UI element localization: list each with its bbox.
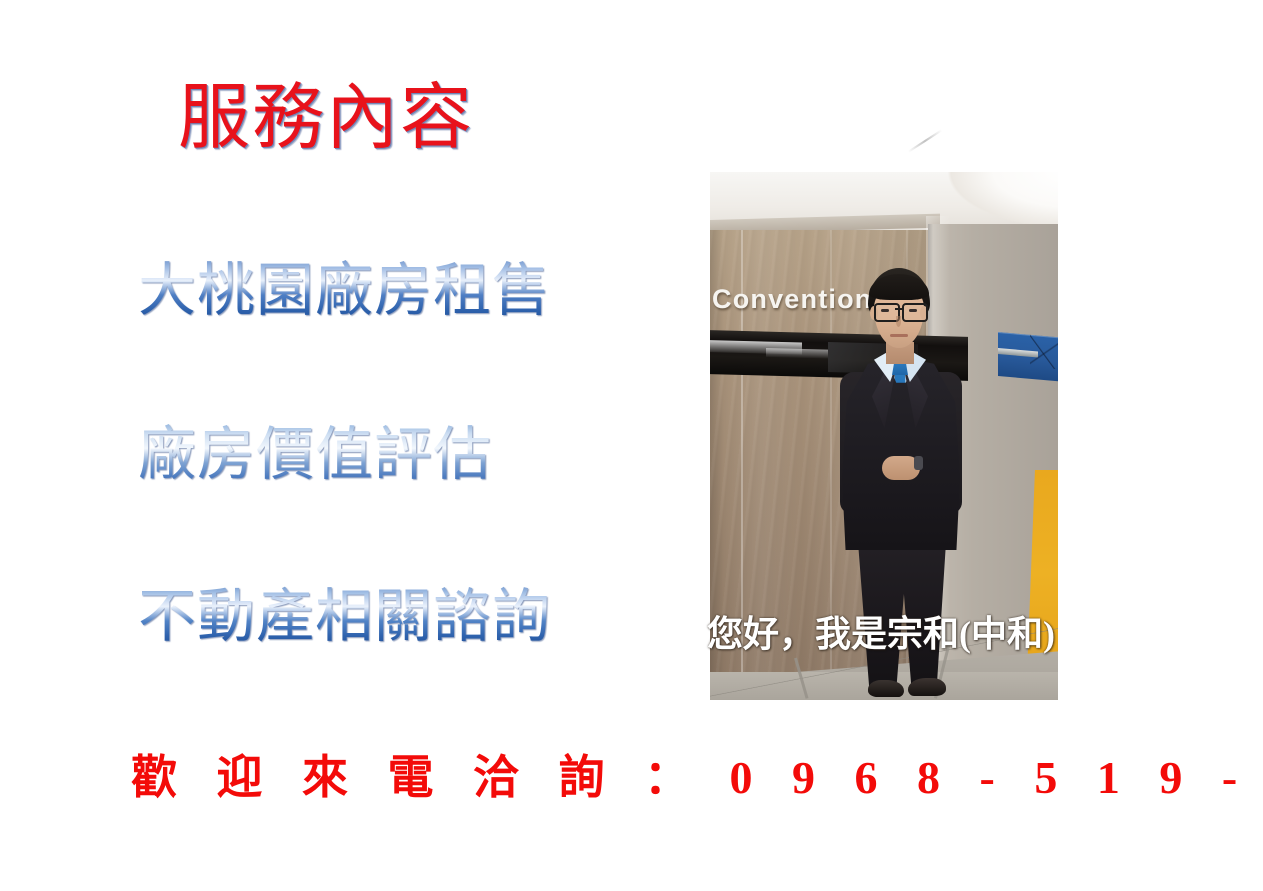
slide-canvas: 服務內容 大桃園廠房租售 廠房價值評估 不動產相關諮詢 Convention C… — [0, 0, 1263, 891]
person-mouth — [890, 334, 908, 337]
eyeglasses-bridge — [895, 308, 903, 310]
diagonal-line-artifact — [908, 129, 943, 152]
service-item-3: 不動產相關諮詢 — [138, 584, 551, 650]
page-title: 服務內容 — [178, 76, 474, 160]
contact-phone-line: 歡 迎 來 電 洽 詢 ： 0 9 6 8 - 5 1 9 - 8 8 8 — [131, 748, 1263, 808]
person-nose — [896, 316, 901, 327]
photo-blue-sign-marking — [1030, 335, 1058, 369]
photo-counter-reflection — [766, 348, 828, 359]
service-item-2: 廠房價值評估 — [138, 422, 492, 488]
photo-caption: 您好，我是宗和(中和) — [707, 612, 1055, 656]
person-shoe-left — [868, 680, 904, 697]
person-wristwatch — [914, 456, 923, 470]
eyeglasses-icon — [902, 303, 928, 322]
service-item-1: 大桃園廠房租售 — [138, 258, 551, 324]
person-shoe-right — [908, 678, 946, 696]
